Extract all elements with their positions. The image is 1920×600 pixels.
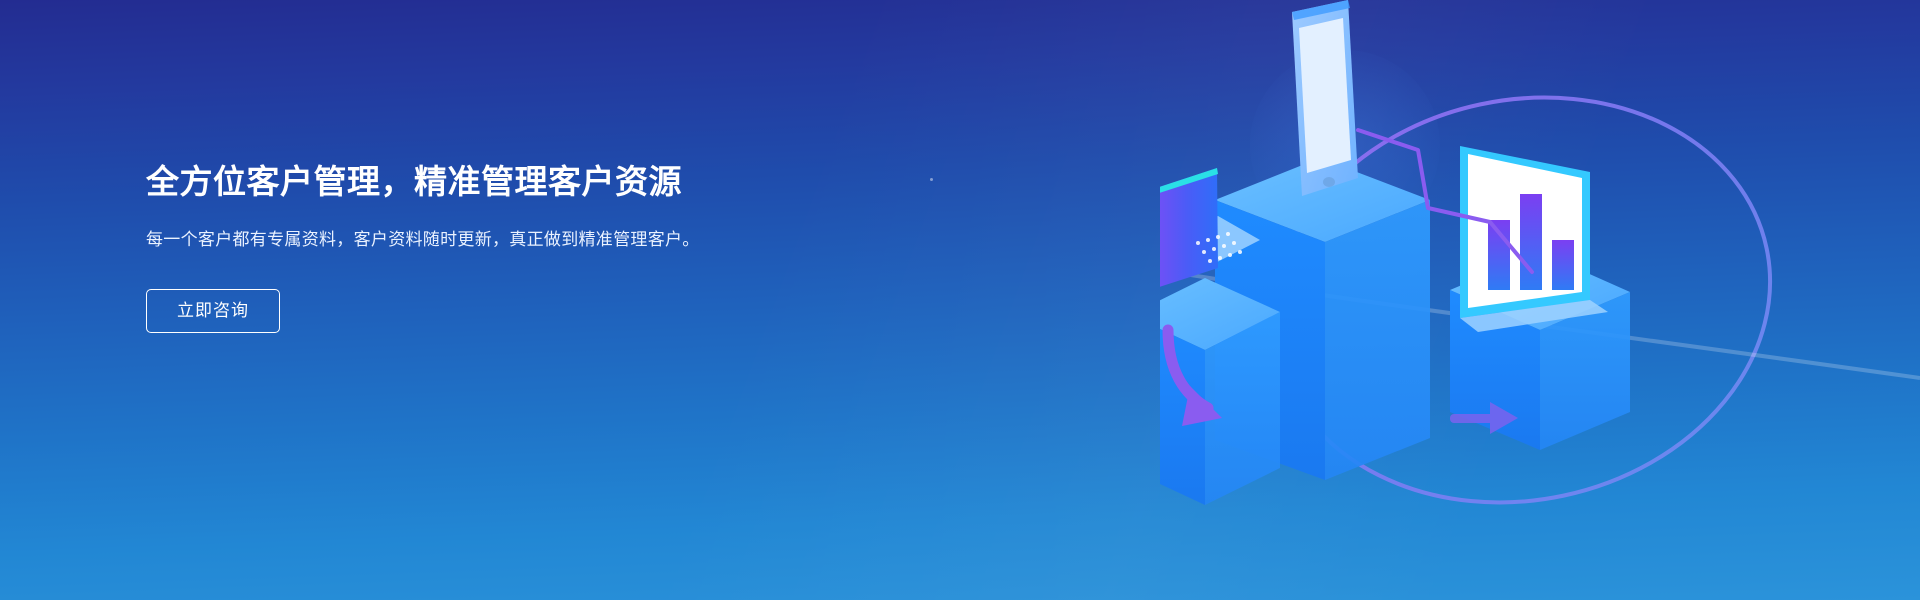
hero-illustration (1160, 0, 1920, 600)
tablet-device (1292, 0, 1358, 196)
left-pillar (1160, 278, 1280, 505)
hero-subtitle: 每一个客户都有专属资料，客户资料随时更新，真正做到精准管理客户。 (146, 226, 738, 253)
sparkle-dot (930, 178, 933, 181)
consult-now-button[interactable]: 立即咨询 (146, 289, 280, 333)
page-title: 全方位客户管理，精准管理客户资源 (146, 160, 786, 204)
hero-banner: 全方位客户管理，精准管理客户资源 每一个客户都有专属资料，客户资料随时更新，真正… (0, 0, 1920, 600)
monitor-device (1460, 146, 1608, 332)
hero-copy: 全方位客户管理，精准管理客户资源 每一个客户都有专属资料，客户资料随时更新，真正… (146, 160, 786, 333)
